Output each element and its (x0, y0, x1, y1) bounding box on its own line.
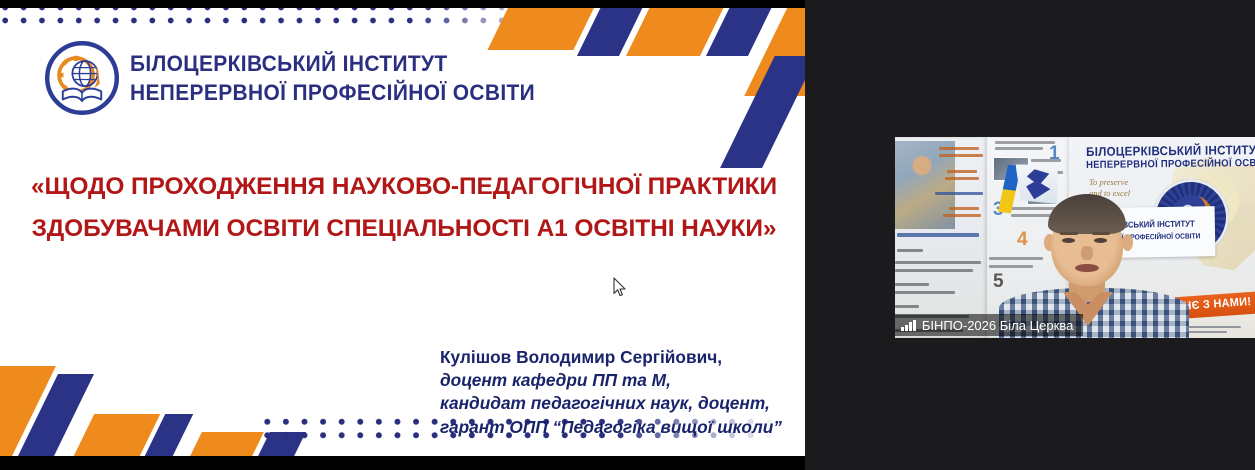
poster-text-line (995, 141, 1055, 144)
dot-pattern-top-left (0, 8, 556, 27)
title-line-2: ЗДОБУВАЧАМИ ОСВІТИ СПЕЦІАЛЬНОСТІ А1 ОСВІ… (28, 208, 780, 250)
author-block: Кулішов Володимир Сергійович, доцент каф… (440, 346, 782, 439)
poster-text-line (939, 154, 983, 157)
participant-name-text: БІНПО-2026 Біла Церква (922, 318, 1073, 333)
poster-text-line (897, 249, 923, 252)
poster-text-line (939, 147, 979, 150)
person-hair (1048, 194, 1126, 234)
poster-left (895, 137, 987, 338)
poster-text-line (995, 147, 1043, 150)
author-name: Кулішов Володимир Сергійович, (440, 346, 782, 369)
person-nose (1081, 246, 1093, 260)
shared-slide-stage[interactable]: БІЛОЦЕРКІВСЬКИЙ ІНСТИТУТ НЕПЕРЕРВНОЇ ПРО… (0, 0, 805, 470)
poster-number: 1 (1049, 143, 1060, 165)
poster-number: 5 (993, 271, 1004, 293)
stripe-orange-b3 (190, 432, 264, 456)
video-participant-tile[interactable]: 1 3 4 5 БІЛОЦЕРКІВ (895, 137, 1255, 338)
institute-name: БІЛОЦЕРКІВСЬКИЙ ІНСТИТУТ НЕПЕРЕРВНОЇ ПРО… (130, 49, 535, 107)
person-ear-right (1122, 234, 1133, 251)
poster-text-line (895, 283, 929, 286)
presentation-slide: БІЛОЦЕРКІВСЬКИЙ ІНСТИТУТ НЕПЕРЕРВНОЇ ПРО… (0, 8, 805, 456)
poster-text-line (1031, 159, 1061, 162)
person-eye-right (1094, 238, 1107, 243)
poster-title-line-2: НЕПЕРЕРВНОЇ ПРОФЕСІЙНОЇ ОСВІТИ (1086, 158, 1255, 171)
signal-strength-icon (901, 319, 916, 331)
poster-text-line (895, 291, 955, 294)
poster-text-line (895, 261, 981, 264)
person-brow-left (1060, 232, 1078, 235)
person-eye-left (1062, 238, 1075, 243)
poster-title-line-1: БІЛОЦЕРКІВСЬКИЙ ІНСТИТУТ (1086, 143, 1255, 159)
author-role-1: доцент кафедри ПП та М, (440, 369, 782, 392)
poster-text-line (945, 177, 979, 180)
institute-emblem-icon (45, 41, 119, 115)
person-mouth (1075, 264, 1099, 272)
poster-text-line (935, 192, 983, 195)
participant-name-label: БІНПО-2026 Біла Церква (895, 314, 1083, 336)
poster-text-line (895, 305, 919, 308)
poster-text-line (947, 170, 977, 173)
poster-text-line (949, 207, 979, 210)
poster-text-line (943, 214, 981, 217)
poster-text-line (895, 269, 973, 272)
page-title: «ЩОДО ПРОХОДЖЕННЯ НАУКОВО-ПЕДАГОГІЧНОЇ П… (28, 166, 780, 250)
poster-text-line (897, 233, 979, 237)
title-line-1: «ЩОДО ПРОХОДЖЕННЯ НАУКОВО-ПЕДАГОГІЧНОЇ П… (28, 166, 780, 208)
video-feed: 1 3 4 5 БІЛОЦЕРКІВ (895, 137, 1255, 338)
screen-share-view: БІЛОЦЕРКІВСЬКИЙ ІНСТИТУТ НЕПЕРЕРВНОЇ ПРО… (0, 0, 1255, 470)
person-brow-right (1092, 232, 1110, 235)
author-role-3: гарант ОПП “Педагогіка вищої школи” (440, 416, 782, 439)
author-role-2: кандидат педагогічних наук, доцент, (440, 392, 782, 415)
